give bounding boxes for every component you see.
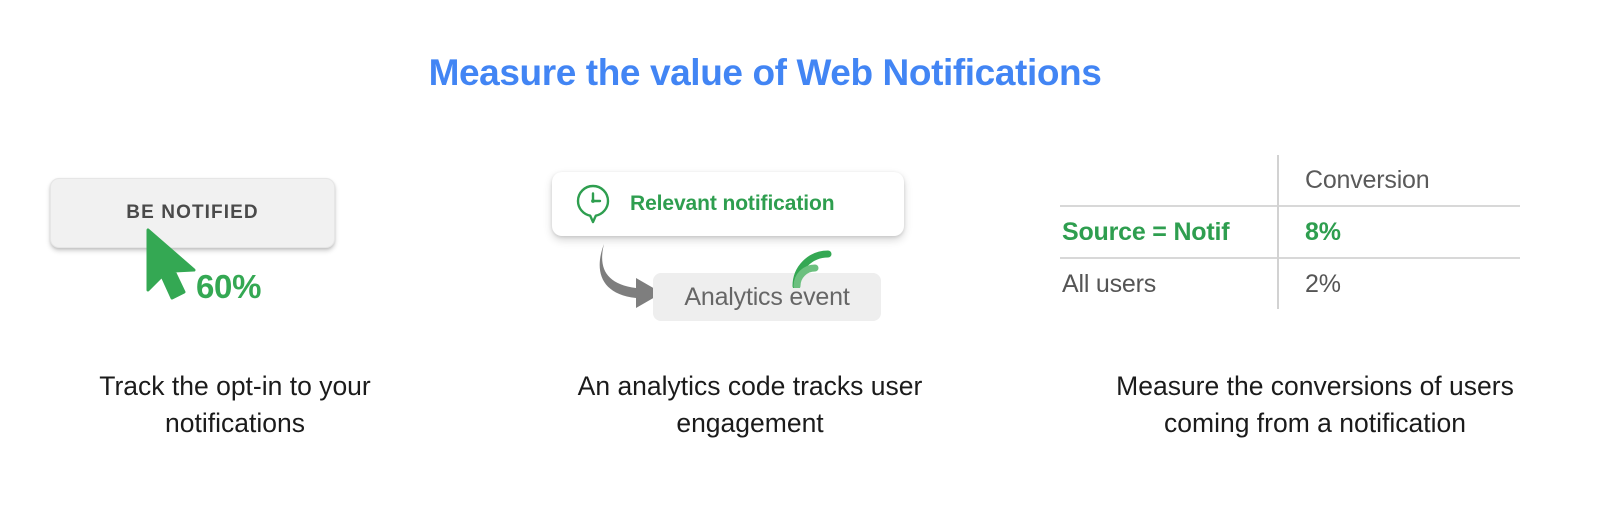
- opt-in-rate-value: 60%: [196, 268, 261, 306]
- conversion-table: Conversion Source = Notif 8% All users 2…: [1060, 155, 1520, 309]
- panel-conversions: Conversion Source = Notif 8% All users 2…: [1030, 140, 1600, 470]
- panels-row: BE NOTIFIED 60% Track the opt-in to your…: [0, 140, 1600, 470]
- panel-opt-in-illustration: BE NOTIFIED 60%: [0, 140, 470, 340]
- table-header-row: Conversion: [1060, 155, 1520, 206]
- table-cell-allusers-value: 2%: [1278, 259, 1520, 309]
- wifi-signal-icon: [788, 246, 834, 288]
- table-cell-source-value: 8%: [1278, 207, 1520, 258]
- be-notified-button-label: BE NOTIFIED: [126, 202, 258, 224]
- caption-line: Track the opt-in to your: [0, 368, 470, 405]
- panel-opt-in-caption: Track the opt-in to your notifications: [0, 368, 470, 442]
- caption-line: notifications: [0, 405, 470, 442]
- table-cell-allusers-label: All users: [1060, 259, 1278, 309]
- table-row: Source = Notif 8%: [1060, 207, 1520, 258]
- page-title: Measure the value of Web Notifications: [0, 52, 1530, 94]
- panel-analytics-caption: An analytics code tracks user engagement: [470, 368, 1030, 442]
- table-header-empty: [1060, 155, 1278, 206]
- table-cell-source-label: Source = Notif: [1060, 207, 1278, 258]
- caption-line: engagement: [470, 405, 1030, 442]
- panel-conversions-illustration: Conversion Source = Notif 8% All users 2…: [1030, 140, 1600, 340]
- caption-line: An analytics code tracks user: [470, 368, 1030, 405]
- relevant-notification-label: Relevant notification: [630, 192, 834, 216]
- panel-opt-in: BE NOTIFIED 60% Track the opt-in to your…: [0, 140, 470, 470]
- caption-line: Measure the conversions of users: [1030, 368, 1600, 405]
- caption-line: coming from a notification: [1030, 405, 1600, 442]
- table-header-conversion: Conversion: [1278, 155, 1520, 206]
- analytics-event-chip[interactable]: Analytics event: [653, 273, 881, 321]
- relevant-notification-card[interactable]: Relevant notification: [552, 172, 904, 236]
- panel-conversions-caption: Measure the conversions of users coming …: [1030, 368, 1600, 442]
- panel-analytics: Relevant notification Analytics event An…: [470, 140, 1030, 470]
- panel-analytics-illustration: Relevant notification Analytics event: [470, 140, 1030, 340]
- table-row: All users 2%: [1060, 259, 1520, 309]
- clock-pin-icon: [574, 183, 612, 225]
